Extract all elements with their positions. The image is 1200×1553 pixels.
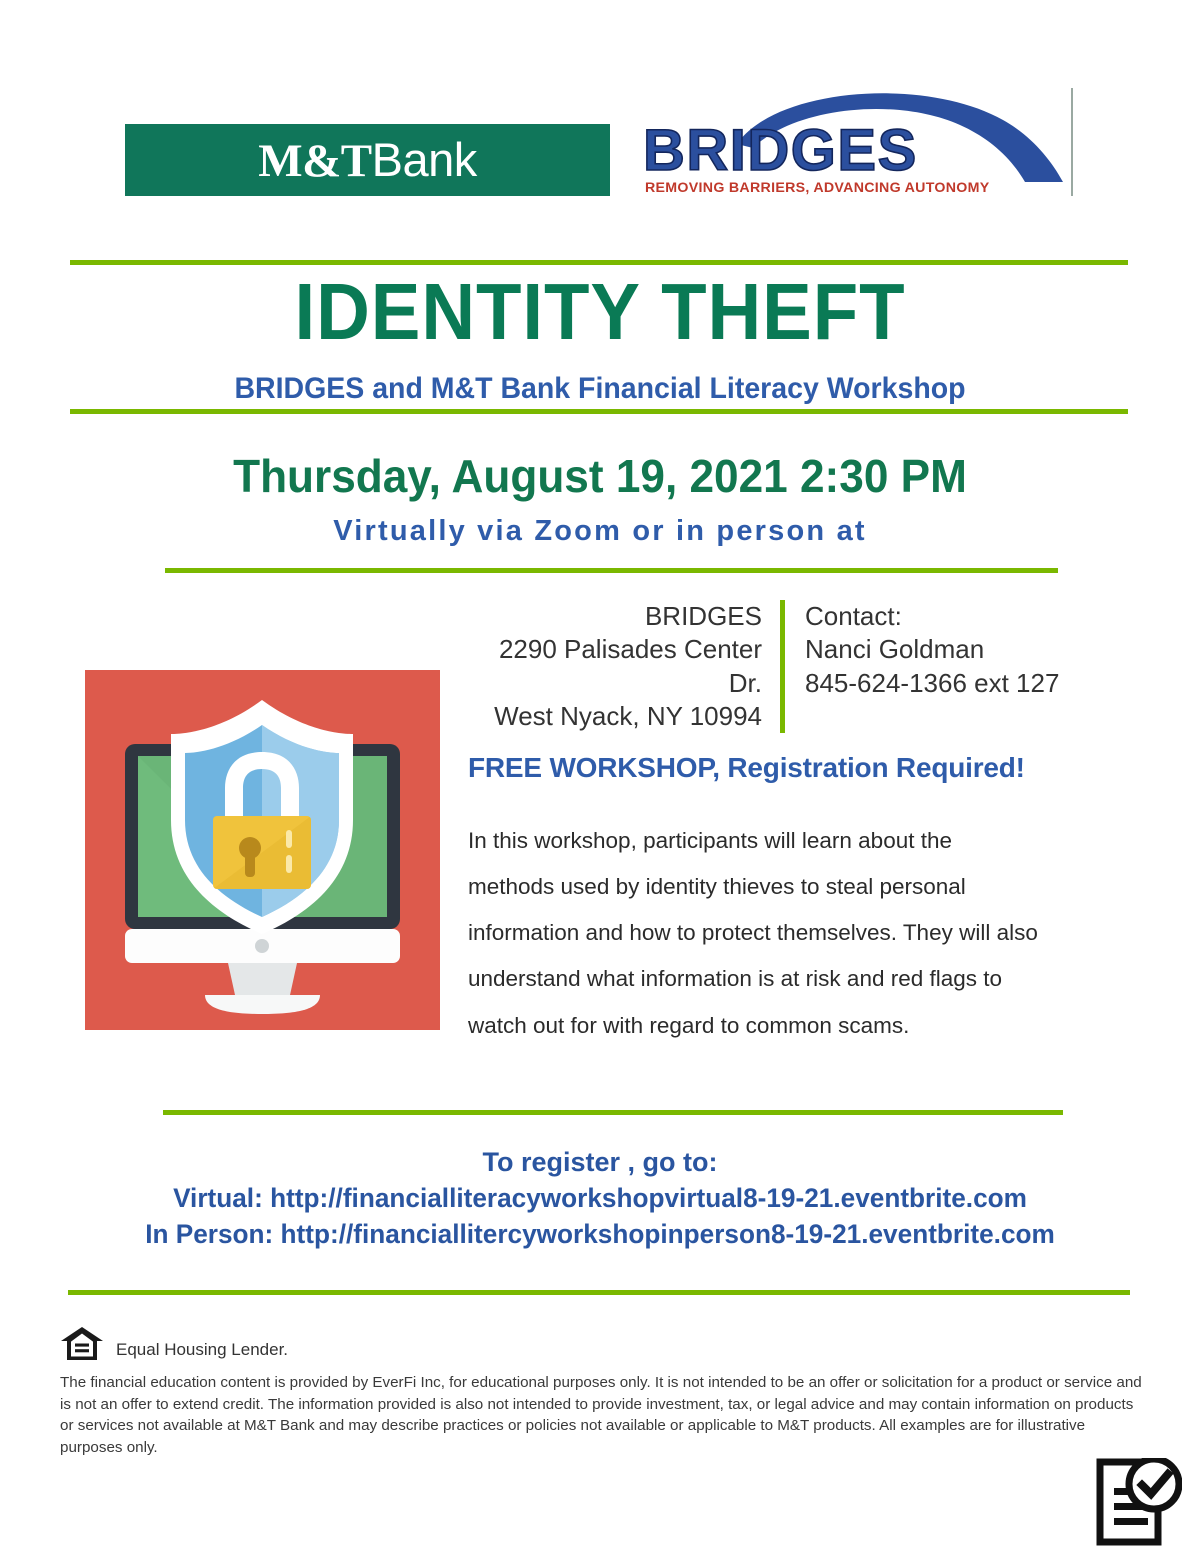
divider-above-title xyxy=(70,260,1128,265)
bridges-logo-graphic: BRIDGES REMOVING BARRIERS, ADVANCING AUT… xyxy=(625,82,1070,197)
mt-bank-logo: M&TBank xyxy=(125,124,610,196)
divider-below-title xyxy=(70,409,1128,414)
padlock-tick-top xyxy=(286,830,292,848)
contact-block: Contact: Nanci Goldman 845-624-1366 ext … xyxy=(785,600,1059,700)
register-block: To register , go to: Virtual: http://fin… xyxy=(0,1146,1200,1253)
bridges-logo-right-rule xyxy=(1071,88,1073,196)
contact-phone: 845-624-1366 ext 127 xyxy=(805,667,1059,700)
bridges-logo: BRIDGES REMOVING BARRIERS, ADVANCING AUT… xyxy=(625,82,1070,197)
register-virtual-label: Virtual: xyxy=(173,1183,263,1213)
monitor-stand xyxy=(228,963,297,995)
divider-below-date xyxy=(165,568,1058,573)
equal-housing-lender-icon xyxy=(60,1326,104,1362)
legal-disclaimer: The financial education content is provi… xyxy=(60,1372,1145,1458)
monitor-foot xyxy=(205,995,320,1014)
event-mode: Virtually via Zoom or in person at xyxy=(0,516,1200,548)
title-block: IDENTITY THEFT BRIDGES and M&T Bank Fina… xyxy=(0,272,1200,405)
page-title: IDENTITY THEFT xyxy=(42,272,1158,352)
contact-name: Nanci Goldman xyxy=(805,633,1059,666)
bridges-tagline: REMOVING BARRIERS, ADVANCING AUTONOMY xyxy=(645,180,990,196)
venue-city-state-zip: West Nyack, NY 10994 xyxy=(462,700,762,733)
mt-bank-logo-text: M&TBank xyxy=(258,136,477,185)
event-datetime-block: Thursday, August 19, 2021 2:30 PM Virtua… xyxy=(0,452,1200,548)
venue-contact-row: BRIDGES 2290 Palisades Center Dr. West N… xyxy=(462,600,1062,733)
bridges-wordmark: BRIDGES xyxy=(643,118,918,183)
monitor-power-dot xyxy=(255,939,269,953)
page-subtitle: BRIDGES and M&T Bank Financial Literacy … xyxy=(30,372,1170,405)
register-heading: To register , go to: xyxy=(0,1146,1200,1180)
footer: Equal Housing Lender. The financial educ… xyxy=(60,1320,1150,1458)
free-workshop-heading: FREE WORKSHOP, Registration Required! xyxy=(468,752,1068,784)
equal-housing-row: Equal Housing Lender. xyxy=(60,1320,1150,1362)
register-inperson-label: In Person: xyxy=(145,1219,273,1249)
venue-name: BRIDGES xyxy=(462,600,762,633)
verified-document-icon xyxy=(1090,1458,1182,1546)
divider-above-register xyxy=(163,1110,1063,1115)
mt-bank-logo-word: Bank xyxy=(372,133,477,186)
security-illustration xyxy=(85,670,440,1030)
register-virtual-url[interactable]: http://financialliteracyworkshopvirtual8… xyxy=(270,1183,1027,1213)
contact-label: Contact: xyxy=(805,600,1059,633)
venue-street: 2290 Palisades Center Dr. xyxy=(462,633,762,700)
register-virtual-line[interactable]: Virtual: http://financialliteracyworksho… xyxy=(18,1180,1182,1216)
register-inperson-line[interactable]: In Person: http://financiallitercyworksh… xyxy=(18,1216,1182,1252)
mt-bank-logo-mark: M&T xyxy=(258,135,371,187)
header-logo-band: M&TBank BRIDGES REMOVING BARRIERS, ADVAN… xyxy=(0,0,1200,250)
divider-above-footer xyxy=(68,1290,1130,1295)
equal-housing-lender-label: Equal Housing Lender. xyxy=(116,1340,288,1362)
padlock-tick-bottom xyxy=(286,855,292,873)
register-inperson-url[interactable]: http://financiallitercyworkshopinperson8… xyxy=(281,1219,1055,1249)
security-illustration-graphic xyxy=(85,670,440,1030)
venue-block: BRIDGES 2290 Palisades Center Dr. West N… xyxy=(462,600,780,733)
event-datetime: Thursday, August 19, 2021 2:30 PM xyxy=(24,452,1176,500)
workshop-description: In this workshop, participants will lear… xyxy=(468,818,1038,1049)
